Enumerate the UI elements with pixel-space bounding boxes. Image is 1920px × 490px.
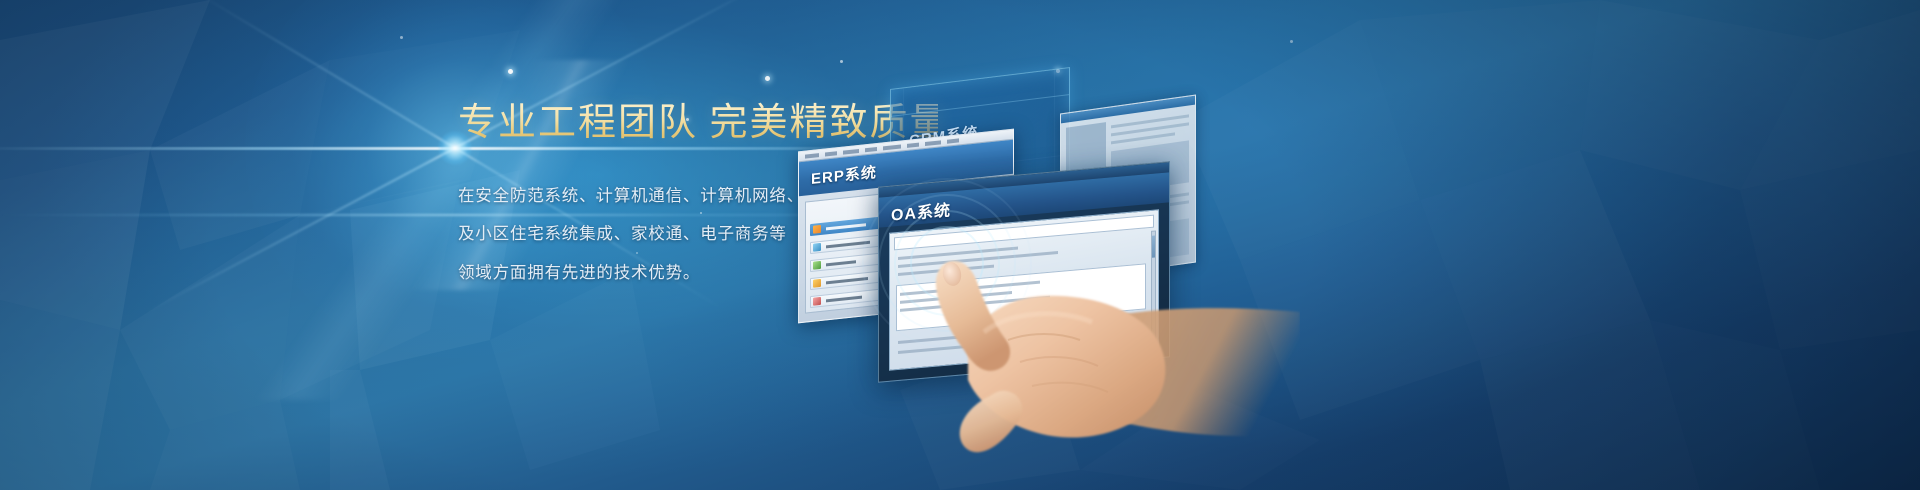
- hero-banner: 专业工程团队 完美精致质量 在安全防范系统、计算机通信、计算机网络、智能大厦 及…: [0, 0, 1920, 490]
- oa-row: [898, 345, 968, 354]
- polygon-decor-left: [0, 0, 520, 490]
- oa-tile[interactable]: [1068, 320, 1094, 335]
- oa-tile[interactable]: [1008, 325, 1034, 340]
- erp-nav-icon: [813, 243, 821, 252]
- oa-row: [898, 333, 994, 344]
- app-screens-cluster: CRM系统 CUSTOMER SYSTEM: [760, 30, 1320, 450]
- erp-nav-icon: [813, 225, 821, 234]
- oa-tile[interactable]: [1038, 323, 1064, 338]
- erp-nav-icon: [813, 261, 821, 270]
- erp-nav-icon: [813, 297, 821, 306]
- erp-nav-icon: [813, 279, 821, 288]
- sparkle: [400, 36, 403, 39]
- sparkle: [508, 69, 513, 74]
- oa-scrollbar[interactable]: [1151, 230, 1156, 340]
- oa-canvas[interactable]: [889, 209, 1159, 371]
- oa-tile[interactable]: [1098, 317, 1124, 332]
- oa-window[interactable]: OA系统: [878, 161, 1170, 383]
